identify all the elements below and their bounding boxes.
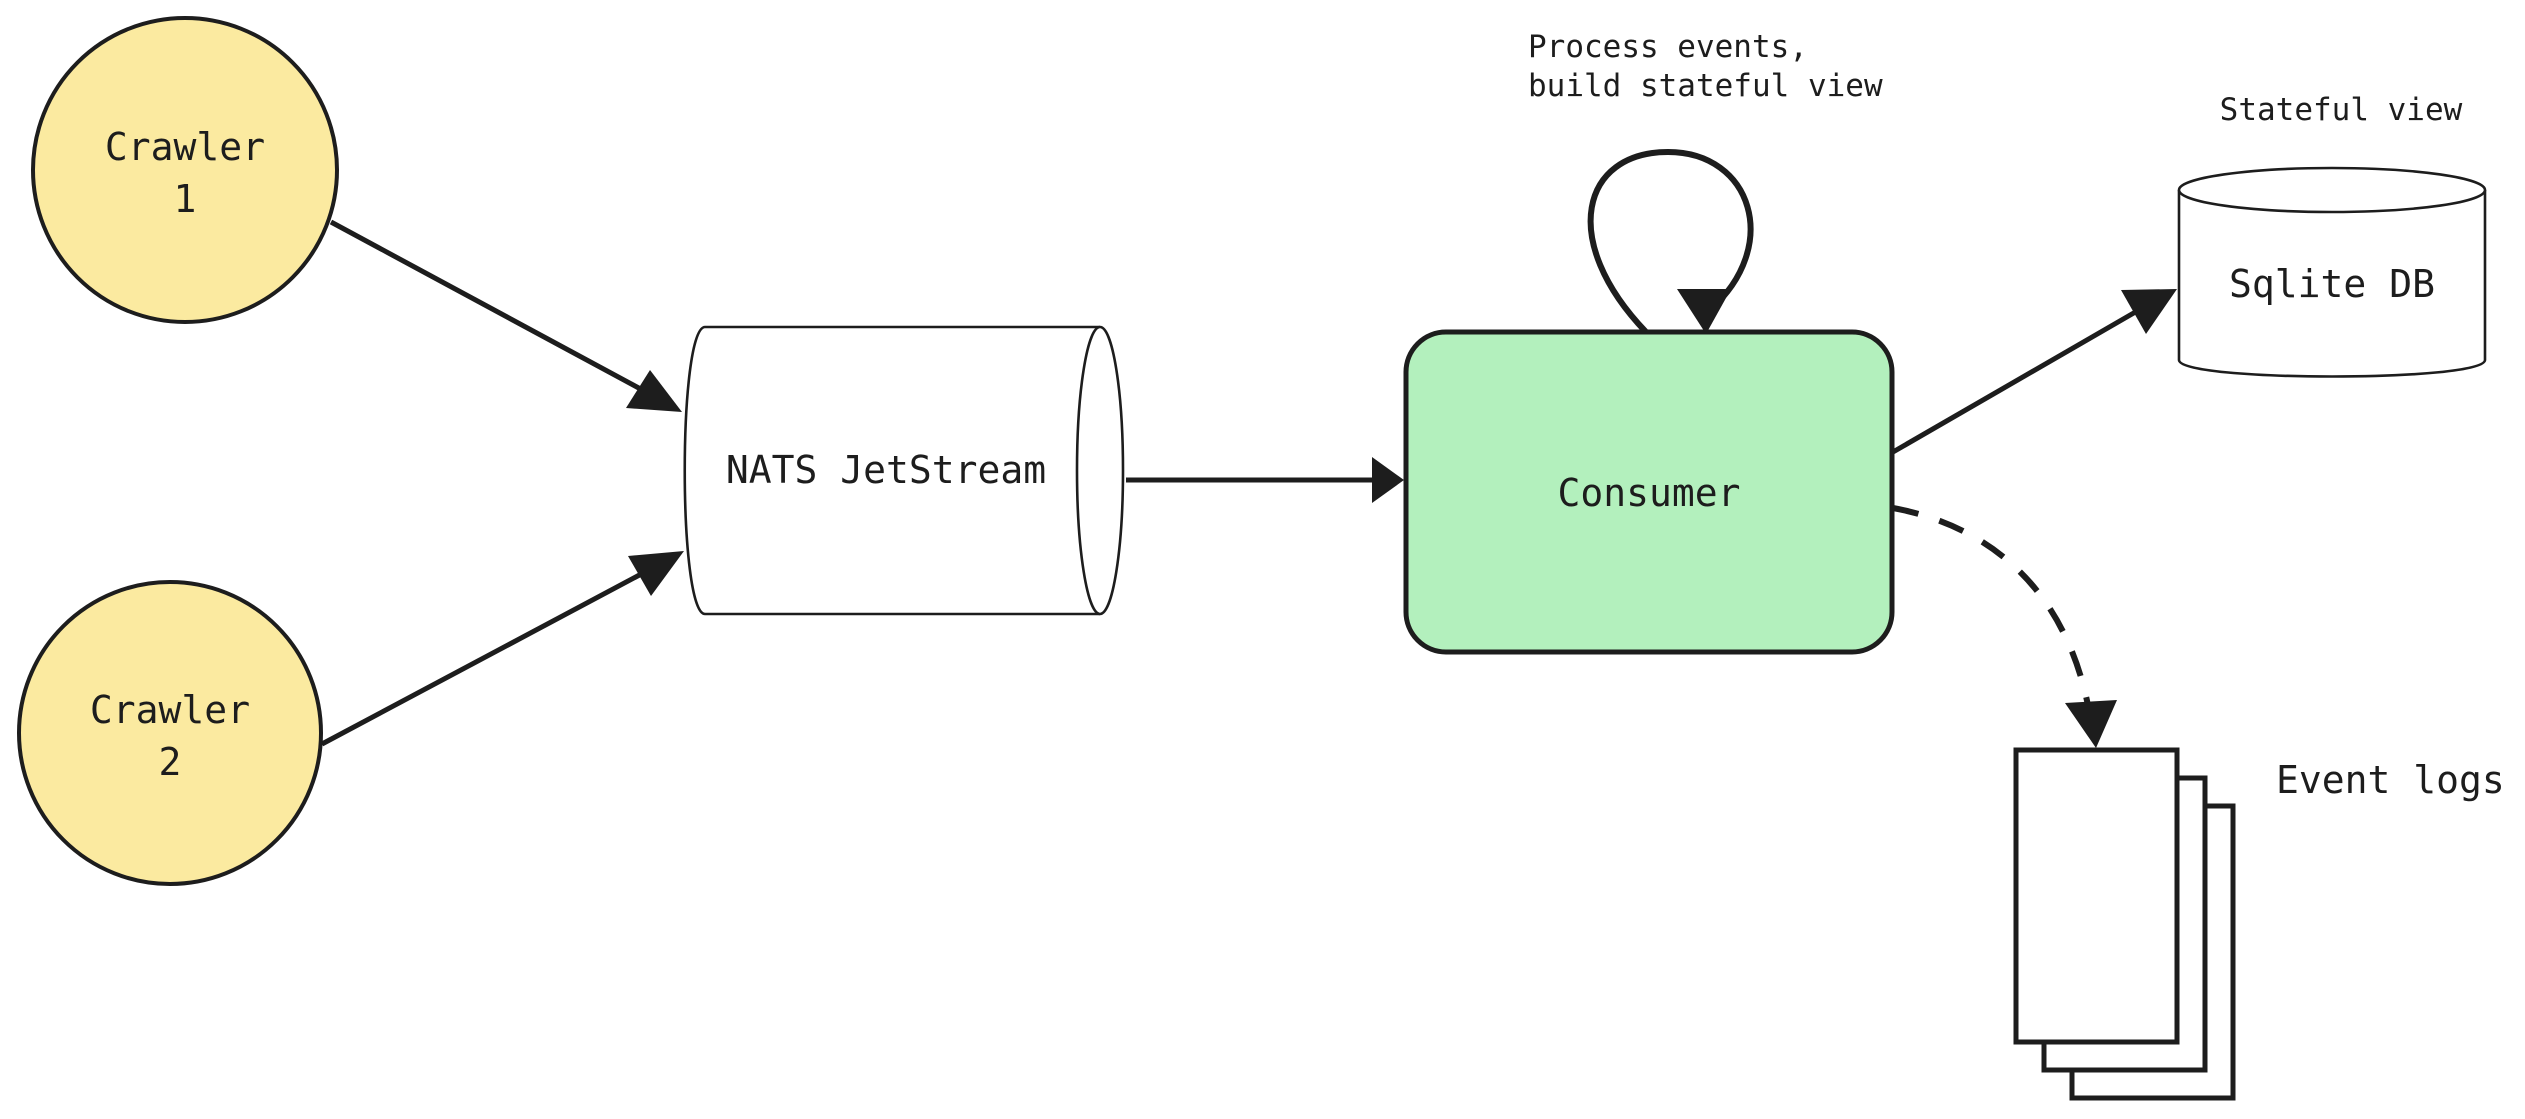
crawler-2-label-line2: 2 [159, 740, 182, 784]
crawler-2-label-line1: Crawler [90, 688, 250, 732]
crawler-2-circle [19, 582, 321, 884]
event-logs-sheet-front [2016, 750, 2177, 1042]
node-crawler-1[interactable]: Crawler 1 [33, 18, 337, 322]
consumer-label: Consumer [1557, 471, 1740, 515]
self-loop-label-line1: Process events, [1528, 29, 1808, 65]
edge-consumer-self-loop [1591, 152, 1751, 334]
sqlite-caption: Stateful view [2220, 92, 2463, 128]
edge-consumer-to-event-logs [1893, 508, 2117, 748]
architecture-diagram-canvas: Crawler 1 Crawler 2 NATS JetStream Consu… [0, 0, 2525, 1119]
self-loop-label-line2: build stateful view [1528, 68, 1883, 104]
crawler-1-circle [33, 18, 337, 322]
node-event-logs[interactable]: Event logs [2016, 750, 2505, 1098]
sqlite-cylinder-cap [2179, 168, 2485, 212]
event-logs-label: Event logs [2276, 758, 2505, 802]
crawler-1-label-line1: Crawler [105, 125, 265, 169]
node-crawler-2[interactable]: Crawler 2 [19, 582, 321, 884]
sqlite-label: Sqlite DB [2229, 262, 2435, 306]
jetstream-cylinder-cap [1077, 327, 1123, 614]
node-sqlite-db[interactable]: Stateful view Sqlite DB [2179, 92, 2485, 377]
edge-crawler1-to-jetstream [331, 222, 682, 412]
edge-jetstream-to-consumer [1126, 457, 1404, 503]
crawler-1-label-line2: 1 [174, 177, 197, 221]
edge-crawler2-to-jetstream [322, 551, 684, 744]
node-consumer[interactable]: Consumer [1406, 332, 1892, 652]
jetstream-label: NATS JetStream [726, 448, 1046, 492]
edge-consumer-to-sqlite [1893, 289, 2177, 452]
node-nats-jetstream[interactable]: NATS JetStream [685, 327, 1123, 614]
self-loop-edge-label: Process events, build stateful view [1528, 29, 1883, 104]
